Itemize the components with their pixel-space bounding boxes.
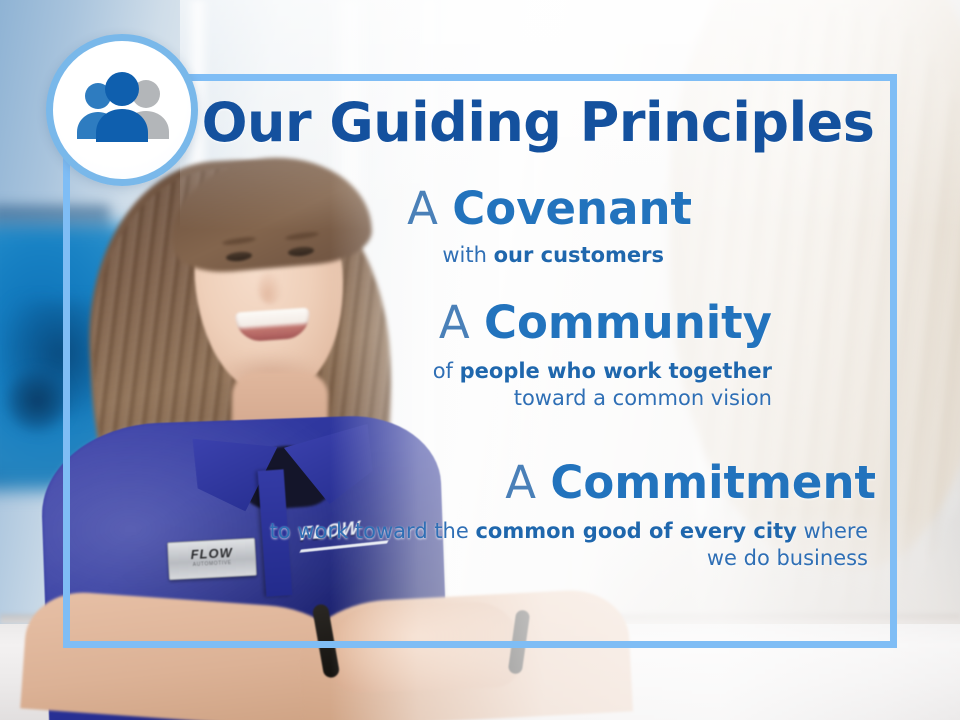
principle-community-subtext: of people who work together toward a com… [0, 358, 772, 412]
principle-community: A Community of people who work together … [0, 300, 772, 412]
principle-community-sub-bold: people who work together [460, 359, 772, 383]
principle-covenant-sub-bold: our customers [494, 243, 664, 267]
principle-covenant-word: Covenant [452, 182, 692, 235]
principle-commitment-sub-prefix: to work toward the [270, 519, 476, 543]
principle-covenant-subtext: with our customers [0, 242, 692, 269]
principle-community-sub-line2: toward a common vision [0, 385, 772, 412]
principle-community-word: Community [484, 296, 772, 349]
text-content: Our Guiding Principles A Covenant with o… [0, 0, 960, 720]
principle-commitment-sub-suffix: where [797, 519, 868, 543]
principle-covenant-article: A [407, 182, 438, 235]
principle-commitment-word: Commitment [550, 456, 876, 509]
principle-commitment-sub-bold: common good of every city [475, 519, 796, 543]
guiding-principles-banner: FLOW AUTOMOTIVE FLOW [0, 0, 960, 720]
principle-covenant: A Covenant with our customers [0, 186, 692, 269]
page-title: Our Guiding Principles [0, 96, 960, 150]
principle-community-article: A [439, 296, 470, 349]
principle-community-heading: A Community [0, 300, 772, 346]
principle-commitment: A Commitment to work toward the common g… [0, 460, 876, 572]
principle-covenant-sub-prefix: with [442, 243, 493, 267]
principle-commitment-article: A [505, 456, 536, 509]
principle-commitment-subtext: to work toward the common good of every … [0, 518, 876, 572]
principle-covenant-heading: A Covenant [0, 186, 692, 232]
principle-commitment-sub-line2: we do business [0, 545, 868, 572]
principle-community-sub-prefix: of [433, 359, 460, 383]
principle-commitment-heading: A Commitment [0, 460, 876, 506]
